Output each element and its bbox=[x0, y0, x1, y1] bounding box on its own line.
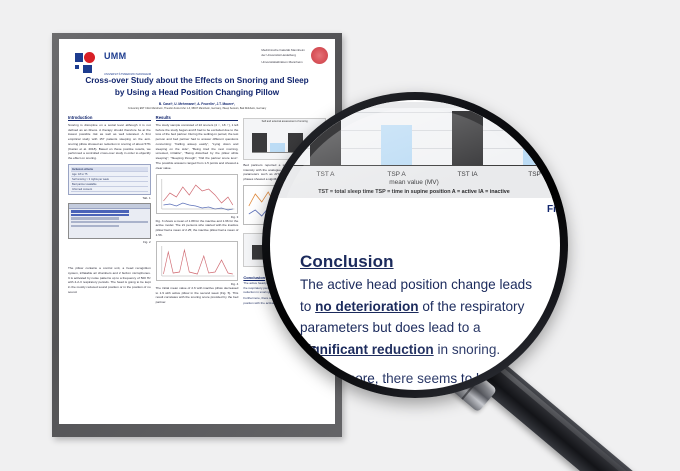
magnified-conclusion: Conclusion The active head position chan… bbox=[300, 252, 550, 390]
y-tick-150: 150 bbox=[275, 110, 286, 117]
figure-3-linechart bbox=[156, 174, 239, 214]
table-caption-1: Tab. 1 bbox=[68, 196, 151, 200]
magnified-content: illow 4) Fig. 5 we bbox=[270, 100, 560, 390]
faculty-line2: der Universität Heidelberg bbox=[261, 53, 305, 58]
bar-tst-ia bbox=[452, 111, 483, 165]
x-tick-label: TST A bbox=[290, 171, 361, 178]
pillow-description: The pillow contains a control unit, a he… bbox=[68, 266, 151, 295]
bar-slot-tst-ia bbox=[432, 108, 503, 165]
screenshot-line bbox=[71, 217, 119, 219]
university-seal-icon bbox=[311, 47, 328, 64]
bar-tsp-a: MV (MV) bbox=[381, 125, 412, 165]
bar-slot-tsp-ia bbox=[503, 108, 560, 165]
umm-logo-text: UMM UNIVERSITÄTSMEDIZIN MANNHEIM bbox=[104, 47, 151, 79]
poster-column-middle: Results The study sample consisted of 22… bbox=[156, 115, 239, 307]
bar-slot-tst-a bbox=[290, 108, 361, 165]
magnifier-glass: illow 4) Fig. 5 we bbox=[270, 100, 560, 390]
figure-caption-2: Fig. 2 bbox=[68, 240, 151, 244]
umm-logo: UMM UNIVERSITÄTSMEDIZIN MANNHEIM bbox=[75, 47, 151, 79]
x-tick-label: TST IA bbox=[432, 171, 503, 178]
magnified-conclusion-heading: Conclusion bbox=[300, 252, 550, 272]
table-row: Informed consent bbox=[71, 187, 148, 192]
poster-column-left: Introduction Snoring is disruptive on a … bbox=[68, 115, 151, 307]
umm-logo-mark bbox=[75, 53, 101, 73]
section-heading-introduction: Introduction bbox=[68, 115, 151, 121]
figure-3-description: Fig. 3 shows a mean of 1.88 for the inac… bbox=[156, 219, 239, 238]
screenshot-line bbox=[71, 225, 119, 227]
y-tick-0: 0 bbox=[282, 161, 286, 168]
emphasis-no-deterioration: no deterioration bbox=[315, 299, 418, 314]
screenshot-line bbox=[71, 210, 129, 212]
magnified-conclusion-line1: The active head position change leads bbox=[300, 276, 550, 294]
results-bottom-text: The initial mean value of 2.6 with inact… bbox=[156, 286, 239, 305]
chart-bars: MV (MV) bbox=[290, 108, 560, 165]
chart-x-axis-title: mean value (MV) bbox=[270, 179, 560, 186]
bar-slot-tsp-a: MV (MV) bbox=[361, 108, 432, 165]
line-chart-svg bbox=[157, 175, 238, 213]
pillow-photo-figure bbox=[68, 203, 151, 239]
x-tick-label: TSP IA bbox=[503, 171, 560, 178]
section-heading-results: Results bbox=[156, 115, 239, 121]
inclusion-criteria-table: Inclusion criteria Age: 18 to 75 Self sn… bbox=[68, 164, 151, 195]
faculty-line3: Universitätsklinikum Mannheim bbox=[261, 60, 305, 65]
magnified-conclusion-line4: significant reduction in snoring. bbox=[300, 341, 550, 359]
y-tick-100: 100 bbox=[275, 127, 286, 134]
y-tick-50: 50 bbox=[279, 144, 286, 151]
x-tick-label: TSP A bbox=[361, 171, 432, 178]
screenshot-line bbox=[71, 221, 148, 223]
magnified-bar-chart: MV (MV) 0 50 bbox=[270, 102, 560, 198]
chart-x-labels: TST A TSP A TST IA TSP IA bbox=[290, 171, 560, 178]
magnifier[interactable]: illow 4) Fig. 5 we bbox=[262, 92, 568, 398]
line-chart-svg-2 bbox=[157, 242, 238, 280]
magnified-conclusion-line2: to no deterioration of the respiratory bbox=[300, 298, 550, 316]
bar-tsp-ia bbox=[523, 146, 554, 165]
umm-logo-name: UMM bbox=[104, 51, 126, 61]
bar-value-label: MV (MV) bbox=[302, 120, 332, 127]
faculty-block: Medizinische Fakultät Mannheim der Unive… bbox=[261, 48, 305, 65]
faculty-line1: Medizinische Fakultät Mannheim bbox=[261, 48, 305, 53]
scene: UMM UNIVERSITÄTSMEDIZIN MANNHEIM Medizin… bbox=[0, 0, 680, 471]
magnified-conclusion-line5: Furthermore, there seems to be no bbox=[300, 370, 550, 388]
introduction-body: Snoring is disruptive on a social level … bbox=[68, 123, 151, 161]
umm-red-dot-icon bbox=[84, 52, 95, 63]
results-body: The study sample consisted of 22 snorers… bbox=[156, 123, 239, 171]
chart-y-axis: 0 50 100 150 bbox=[270, 108, 288, 166]
chart-footnote: TST = total sleep time TSP = time in sup… bbox=[270, 189, 560, 195]
magnified-fig-label: Fig bbox=[547, 204, 560, 215]
bar-tst-a bbox=[310, 110, 341, 165]
poster-header: UMM UNIVERSITÄTSMEDIZIN MANNHEIM Medizin… bbox=[59, 39, 335, 75]
emphasis-significant-reduction: significant reduction bbox=[300, 342, 434, 357]
figure-4-linechart bbox=[156, 241, 239, 281]
screenshot-line bbox=[71, 214, 129, 216]
screenshot-titlebar bbox=[69, 204, 150, 209]
umm-logo-subtitle: UNIVERSITÄTSMEDIZIN MANNHEIM bbox=[104, 73, 151, 76]
chart-plot-area: MV (MV) bbox=[290, 108, 560, 166]
magnified-conclusion-line3: parameters but does lead to a bbox=[300, 319, 550, 337]
